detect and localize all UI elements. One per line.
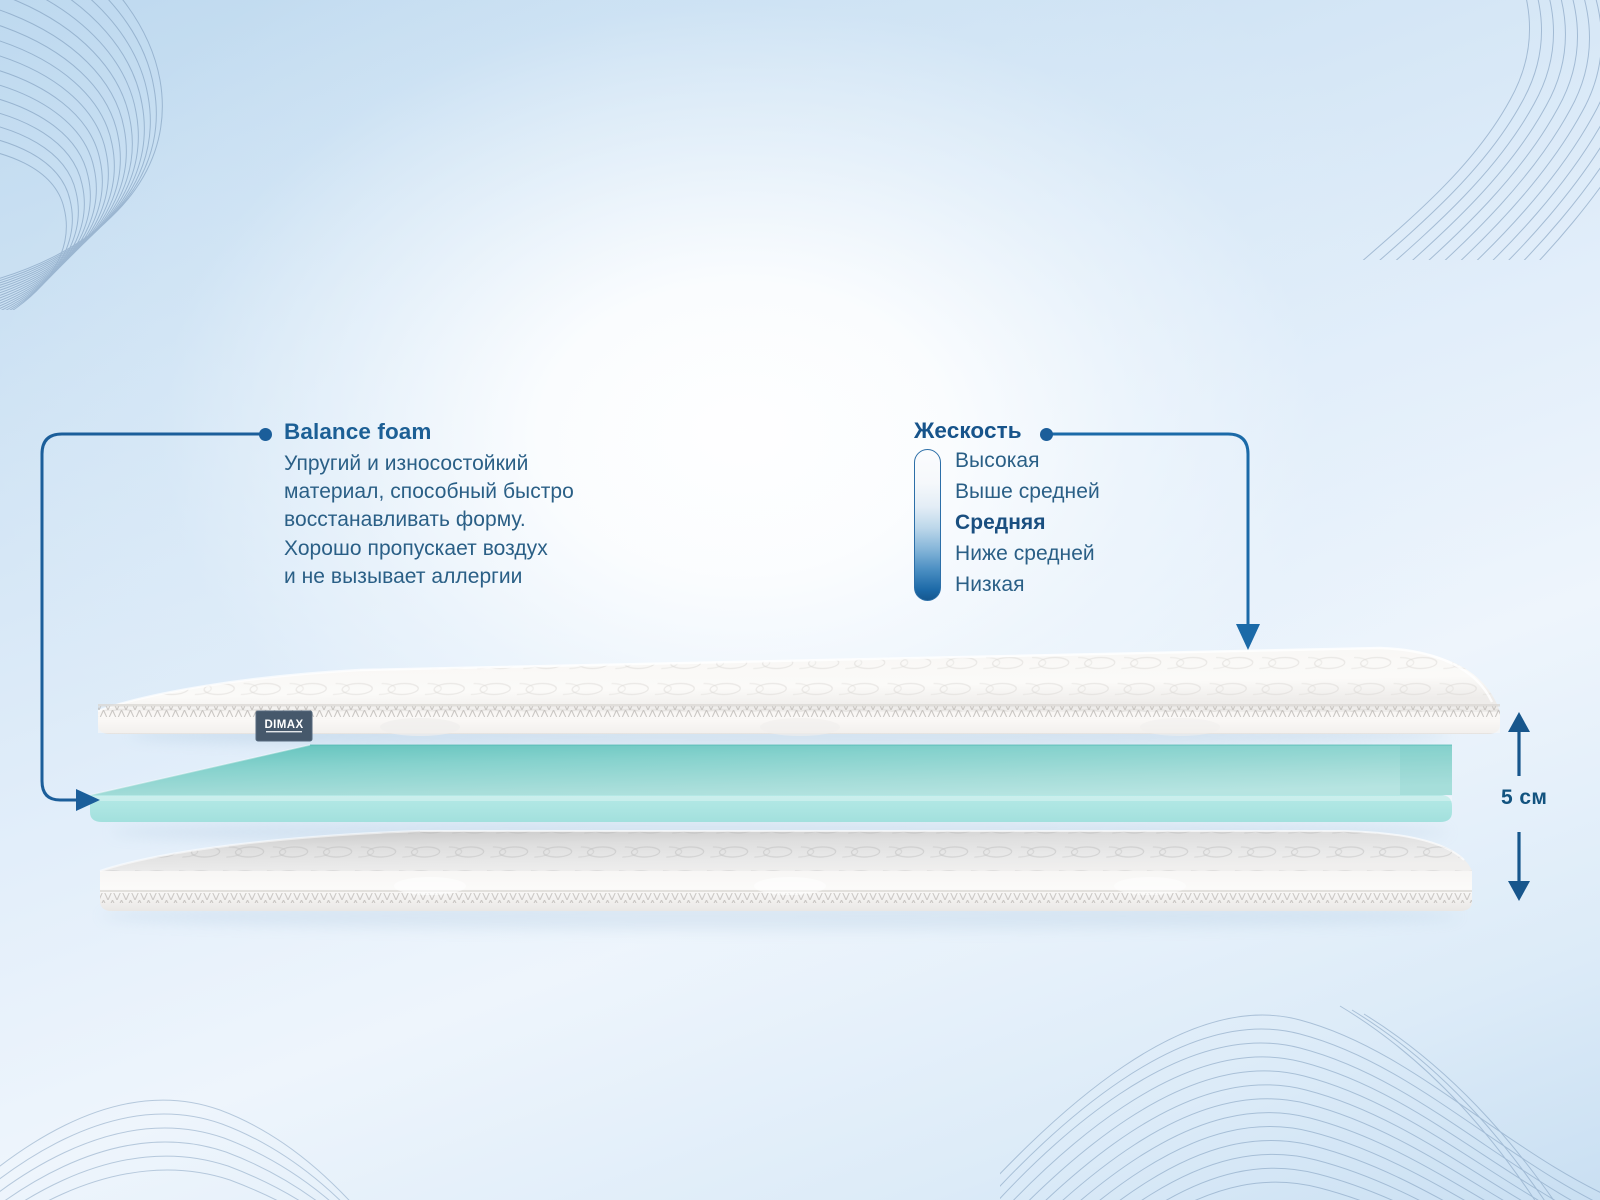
stiffness-scale: Жескость Высокая Выше средней Средняя Ни…: [914, 418, 1100, 601]
callout-dot-left: [259, 428, 272, 441]
stiffness-level-below-medium: Ниже средней: [955, 538, 1100, 569]
stiffness-level-above-medium: Выше средней: [955, 476, 1100, 507]
mattress-base-layer: [100, 831, 1472, 911]
mattress-foam-layer: [90, 745, 1452, 822]
stiffness-level-list: Высокая Выше средней Средняя Ниже средне…: [955, 445, 1100, 600]
infographic-canvas: DIMAX Balance foam Упругий и износостойк…: [0, 0, 1600, 1200]
callout-title: Balance foam: [284, 418, 664, 446]
callout-line: и не вызывает аллергии: [284, 563, 664, 591]
callout-line: восстанавливать форму.: [284, 506, 664, 534]
dimension-label: 5 см: [1501, 786, 1547, 810]
stiffness-gauge-bar: [914, 449, 941, 601]
brand-badge-label: DIMAX: [264, 719, 303, 731]
callout-balance-foam: Balance foam Упругий и износостойкий мат…: [284, 418, 664, 591]
stiffness-level-high: Высокая: [955, 445, 1100, 476]
mattress-layer-stack: DIMAX: [0, 0, 1600, 1200]
dimension-arrow-up: [1508, 712, 1530, 732]
stiffness-level-low: Низкая: [955, 569, 1100, 600]
callout-arrow-right: [1236, 624, 1260, 650]
callout-line: материал, способный быстро: [284, 478, 664, 506]
callout-line: Упругий и износостойкий: [284, 450, 664, 478]
stiffness-level-medium: Средняя: [955, 507, 1100, 538]
callout-line: Хорошо пропускает воздух: [284, 535, 664, 563]
dimension-arrow-down: [1508, 881, 1530, 901]
stiffness-title: Жескость: [914, 418, 1100, 444]
callout-connector-left: [42, 434, 262, 800]
callout-description: Упругий и износостойкий материал, способ…: [284, 450, 664, 591]
brand-badge: DIMAX: [256, 711, 312, 741]
